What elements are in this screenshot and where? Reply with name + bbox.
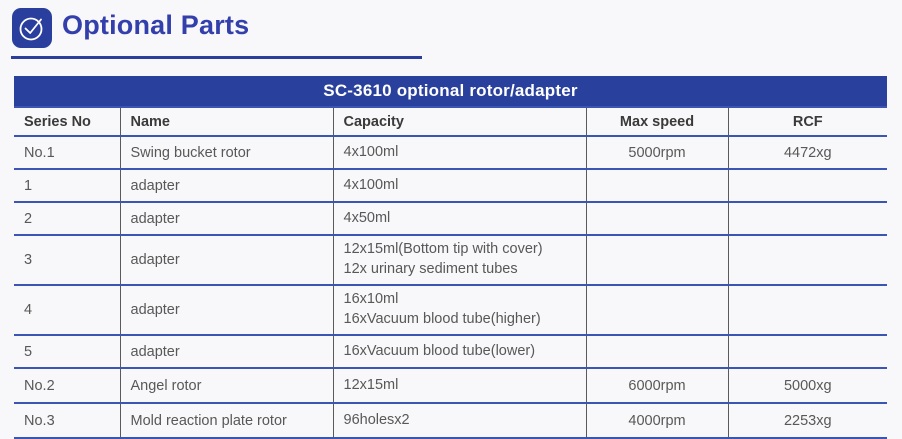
cell-capacity: 96holesx2 — [333, 403, 586, 438]
capacity-line: 12x15ml(Bottom tip with cover) — [344, 240, 586, 260]
cell-max-speed: 4000rpm — [586, 403, 728, 438]
cell-rcf: 4472xg — [728, 136, 887, 169]
cell-name: Mold reaction plate rotor — [120, 403, 333, 438]
capacity-line: 12x15ml — [344, 376, 586, 396]
cell-name: Angel rotor — [120, 368, 333, 403]
cell-name: Swing bucket rotor — [120, 136, 333, 169]
cell-rcf — [728, 335, 887, 368]
column-header-rcf: RCF — [728, 107, 887, 136]
cell-capacity: 12x15ml — [333, 368, 586, 403]
table-row: 1adapter4x100ml — [14, 169, 887, 202]
capacity-line: 16x10ml — [344, 290, 586, 310]
cell-rcf: 5000xg — [728, 368, 887, 403]
cell-series-no: No.1 — [14, 136, 120, 169]
cell-name: adapter — [120, 202, 333, 235]
cell-capacity: 4x100ml — [333, 136, 586, 169]
table-row: 3adapter12x15ml(Bottom tip with cover)12… — [14, 235, 887, 285]
cell-name: adapter — [120, 285, 333, 335]
capacity-line: 16xVacuum blood tube(lower) — [344, 342, 586, 362]
cell-rcf — [728, 285, 887, 335]
column-header-name: Name — [120, 107, 333, 136]
cell-series-no: 4 — [14, 285, 120, 335]
cell-max-speed — [586, 335, 728, 368]
table-row: 4adapter16x10ml16xVacuum blood tube(high… — [14, 285, 887, 335]
cell-series-no: No.3 — [14, 403, 120, 438]
cell-rcf — [728, 169, 887, 202]
capacity-line: 12x urinary sediment tubes — [344, 260, 586, 280]
cell-rcf — [728, 202, 887, 235]
cell-series-no: 3 — [14, 235, 120, 285]
cell-series-no: 2 — [14, 202, 120, 235]
table-body: No.1Swing bucket rotor4x100ml5000rpm4472… — [14, 136, 887, 438]
cell-max-speed: 6000rpm — [586, 368, 728, 403]
page-header: Optional Parts — [0, 0, 902, 66]
capacity-line: 4x100ml — [344, 176, 586, 196]
cell-capacity: 4x100ml — [333, 169, 586, 202]
table-banner-title: SC-3610 optional rotor/adapter — [14, 76, 887, 106]
cell-series-no: 5 — [14, 335, 120, 368]
page-title: Optional Parts — [62, 10, 249, 41]
cell-max-speed — [586, 285, 728, 335]
table-row: No.3Mold reaction plate rotor96holesx240… — [14, 403, 887, 438]
cell-capacity: 12x15ml(Bottom tip with cover)12x urinar… — [333, 235, 586, 285]
optional-parts-table: Series No Name Capacity Max speed RCF No… — [14, 106, 887, 439]
cell-name: adapter — [120, 335, 333, 368]
title-underline-rule — [11, 56, 422, 59]
check-circle-icon — [12, 8, 52, 48]
table-row: 5adapter16xVacuum blood tube(lower) — [14, 335, 887, 368]
capacity-line: 96holesx2 — [344, 411, 586, 431]
capacity-line: 4x100ml — [344, 143, 586, 163]
cell-max-speed — [586, 202, 728, 235]
table-row: No.1Swing bucket rotor4x100ml5000rpm4472… — [14, 136, 887, 169]
cell-max-speed: 5000rpm — [586, 136, 728, 169]
column-header-max-speed: Max speed — [586, 107, 728, 136]
cell-max-speed — [586, 169, 728, 202]
cell-rcf — [728, 235, 887, 285]
cell-series-no: 1 — [14, 169, 120, 202]
column-header-series-no: Series No — [14, 107, 120, 136]
cell-capacity: 16xVacuum blood tube(lower) — [333, 335, 586, 368]
cell-capacity: 4x50ml — [333, 202, 586, 235]
capacity-line: 16xVacuum blood tube(higher) — [344, 310, 586, 330]
cell-name: adapter — [120, 169, 333, 202]
cell-max-speed — [586, 235, 728, 285]
cell-series-no: No.2 — [14, 368, 120, 403]
cell-rcf: 2253xg — [728, 403, 887, 438]
column-header-capacity: Capacity — [333, 107, 586, 136]
table-header-row: Series No Name Capacity Max speed RCF — [14, 107, 887, 136]
table-row: No.2Angel rotor12x15ml6000rpm5000xg — [14, 368, 887, 403]
optional-parts-table-wrapper: SC-3610 optional rotor/adapter Series No… — [14, 76, 887, 439]
cell-name: adapter — [120, 235, 333, 285]
capacity-line: 4x50ml — [344, 209, 586, 229]
cell-capacity: 16x10ml16xVacuum blood tube(higher) — [333, 285, 586, 335]
table-row: 2adapter4x50ml — [14, 202, 887, 235]
